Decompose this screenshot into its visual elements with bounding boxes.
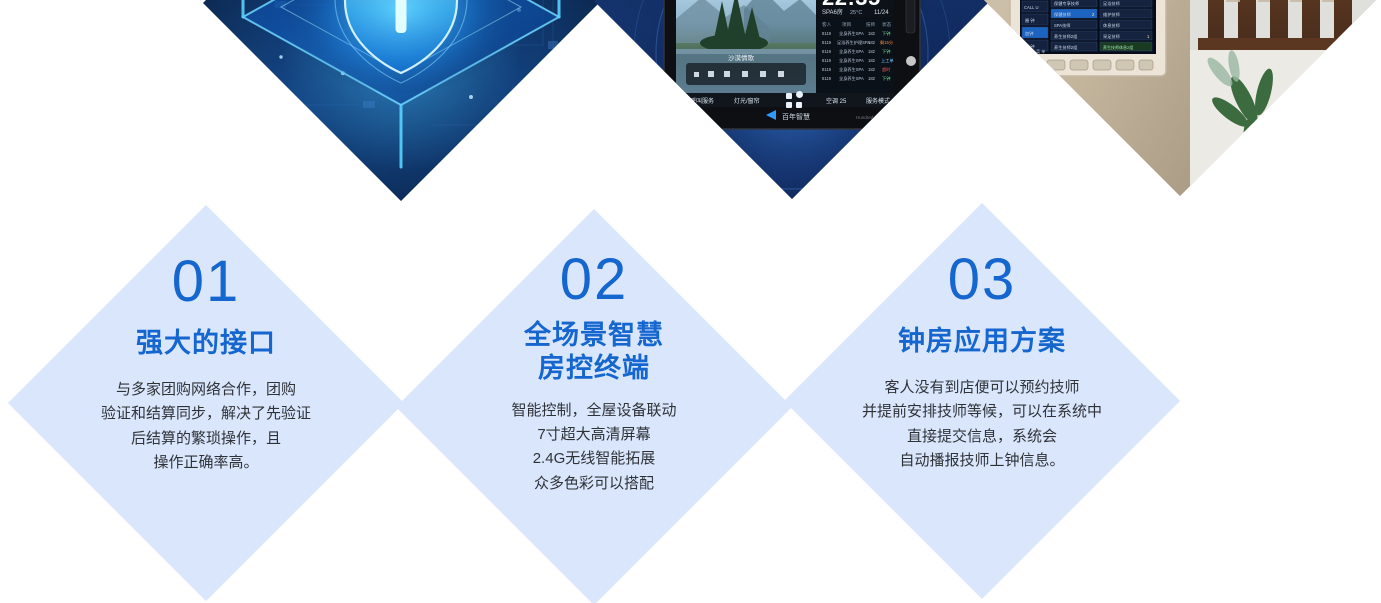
shield-circuit-svg xyxy=(203,0,599,201)
svg-text:全身养生SPA: 全身养生SPA xyxy=(839,30,864,37)
tech-shield-circuit-image xyxy=(203,0,599,201)
svg-text:下钟: 下钟 xyxy=(882,75,890,82)
svg-text:Hundred Years Wisdom: Hundred Years Wisdom xyxy=(856,115,904,120)
svg-text:全身养生SPA: 全身养生SPA xyxy=(839,57,864,64)
svg-text:灯光/窗帘: 灯光/窗帘 xyxy=(734,97,760,105)
svg-text:沙漠情歌: 沙漠情歌 xyxy=(728,53,755,62)
wall-control-panel-room-image: 客房控制 点 钟 CALL U 圈 钟 加钟 xyxy=(982,0,1378,196)
svg-text:182: 182 xyxy=(868,76,876,81)
svg-text:空调 25: 空调 25 xyxy=(826,97,847,105)
svg-text:全身养生SPA: 全身养生SPA xyxy=(839,66,864,73)
svg-text:11/24: 11/24 xyxy=(874,10,889,16)
svg-text:养生技师2组: 养生技师2组 xyxy=(1054,44,1077,51)
svg-text:8119: 8119 xyxy=(822,67,832,72)
room-scene-svg: 客房控制 点 钟 CALL U 圈 钟 加钟 xyxy=(982,0,1378,196)
panel-02-body: 智能控制，全屋设备联动 7寸超大高清屏幕 2.4G无线智能拓展 众多色彩可以搭配 xyxy=(511,399,676,496)
svg-text:下钟: 下钟 xyxy=(882,30,890,37)
svg-text:呼叫服务: 呼叫服务 xyxy=(690,97,714,105)
feature-panel-01: 01 强大的接口 与多家团购网络合作，团购 验证和结算同步，解决了先验证 后结算… xyxy=(8,205,404,601)
svg-text:182: 182 xyxy=(868,58,876,63)
panel-02-number: 02 xyxy=(560,251,629,309)
svg-text:22:35: 22:35 xyxy=(822,0,881,10)
svg-text:超时: 超时 xyxy=(882,66,891,73)
svg-text:下钟: 下钟 xyxy=(882,48,890,55)
feature-panel-02: 02 全场景智慧 房控终端 智能控制，全屋设备联动 7寸超大高清屏幕 2.4G无… xyxy=(396,209,792,603)
svg-text:CALL U: CALL U xyxy=(1024,5,1039,10)
svg-text:技师: 技师 xyxy=(866,21,876,28)
tablet-device-svg: CSI280 xyxy=(594,0,990,199)
svg-text:8119: 8119 xyxy=(822,31,832,36)
panel-01-number: 01 xyxy=(172,253,241,311)
panel-01-headline: 强大的接口 xyxy=(136,327,276,360)
panel-03-body: 客人没有到店便可以预约技师 并提前安排技师等候，可以在系统中 直接提交信息，系统… xyxy=(862,376,1102,473)
feature-diamond-banner: CSI280 xyxy=(0,0,1381,603)
svg-text:SPA6房: SPA6房 xyxy=(822,8,843,16)
svg-text:上工单: 上工单 xyxy=(881,57,894,64)
svg-text:SPA技师: SPA技师 xyxy=(1054,22,1070,29)
svg-text:182: 182 xyxy=(868,40,876,45)
svg-text:8119: 8119 xyxy=(822,76,832,81)
svg-text:8119: 8119 xyxy=(822,49,832,54)
svg-text:休息技师: 休息技师 xyxy=(1103,22,1120,29)
svg-text:182: 182 xyxy=(868,31,876,36)
svg-text:采足技师: 采足技师 xyxy=(1103,33,1120,40)
svg-text:主 菜 单: 主 菜 单 xyxy=(1031,48,1045,54)
svg-text:全身养生SPA: 全身养生SPA xyxy=(839,48,864,55)
panel-03-headline: 钟房应用方案 xyxy=(898,325,1066,358)
panel-01-content: 01 强大的接口 与多家团购网络合作，团购 验证和结算同步，解决了先验证 后结算… xyxy=(8,205,404,601)
svg-text:足浴养生护理SPA: 足浴养生护理SPA xyxy=(837,39,870,46)
svg-text:养生技师2组: 养生技师2组 xyxy=(1054,33,1077,40)
room-photo-artwork: 客房控制 点 钟 CALL U 圈 钟 加钟 xyxy=(982,0,1378,196)
svg-text:保健专享技师: 保健专享技师 xyxy=(1054,0,1079,7)
smart-room-tablet-image: CSI280 xyxy=(594,0,990,199)
smart-tablet-artwork: CSI280 xyxy=(594,0,990,199)
svg-text:养生技师休息2组: 养生技师休息2组 xyxy=(1103,44,1133,50)
svg-text:加钟: 加钟 xyxy=(1025,30,1033,37)
svg-text:服务模式: 服务模式 xyxy=(866,97,890,105)
svg-text:足浴技师: 足浴技师 xyxy=(1103,0,1120,7)
panel-03-number: 03 xyxy=(948,251,1017,309)
svg-text:25°C: 25°C xyxy=(850,10,862,16)
feature-panel-03: 03 钟房应用方案 客人没有到店便可以预约技师 并提前安排技师等候，可以在系统中… xyxy=(784,203,1180,599)
svg-text:状态: 状态 xyxy=(882,21,892,27)
svg-text:182: 182 xyxy=(868,49,876,54)
svg-text:保健技师: 保健技师 xyxy=(1054,11,1071,18)
panel-02-content: 02 全场景智慧 房控终端 智能控制，全屋设备联动 7寸超大高清屏幕 2.4G无… xyxy=(396,209,792,603)
panel-01-body: 与多家团购网络合作，团购 验证和结算同步，解决了先验证 后结算的繁琐操作，且 操… xyxy=(101,378,311,475)
panel-03-content: 03 钟房应用方案 客人没有到店便可以预约技师 并提前安排技师等候，可以在系统中… xyxy=(784,203,1180,599)
svg-text:客人: 客人 xyxy=(822,21,832,28)
svg-text:182: 182 xyxy=(868,67,876,72)
svg-text:百年智慧: 百年智慧 xyxy=(782,112,810,121)
svg-text:全身养生SPA: 全身养生SPA xyxy=(839,75,864,82)
svg-text:维护技师: 维护技师 xyxy=(1103,11,1120,18)
svg-text:剩15分: 剩15分 xyxy=(880,39,894,46)
tech-shield-artwork xyxy=(203,0,599,201)
svg-text:8119: 8119 xyxy=(822,40,832,45)
panel-02-headline: 全场景智慧 房控终端 xyxy=(524,319,664,385)
svg-text:圈 钟: 圈 钟 xyxy=(1025,17,1035,24)
svg-text:8119: 8119 xyxy=(822,58,832,63)
